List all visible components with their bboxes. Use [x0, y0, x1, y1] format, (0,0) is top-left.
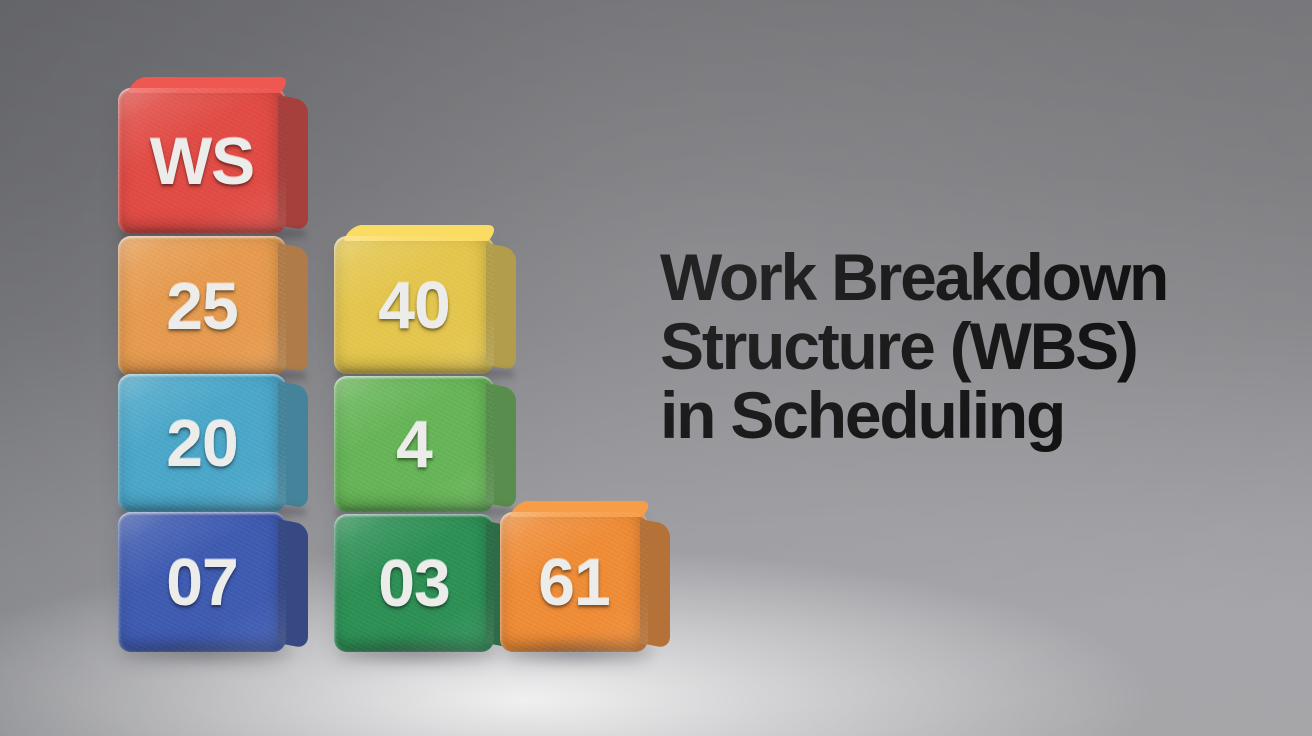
cube-block-light-blue: 20	[118, 374, 286, 512]
cube-label: 4	[334, 376, 494, 512]
cube-label: WS	[118, 88, 286, 234]
cube-block-dark-blue: 07	[118, 512, 286, 652]
cube-label: 25	[118, 236, 286, 376]
cube-block-red: WS	[118, 88, 286, 234]
cube-label: 61	[500, 512, 648, 652]
block-stack-group: WS2520074040361	[0, 0, 700, 736]
page-title: Work Breakdown Structure (WBS) in Schedu…	[660, 243, 1260, 450]
cube-label: 03	[334, 514, 494, 652]
cube-block-orange: 25	[118, 236, 286, 376]
cube-block-yellow: 40	[334, 236, 494, 374]
cube-block-dark-green: 03	[334, 514, 494, 652]
cube-label: 20	[118, 374, 286, 512]
cube-block-light-green: 4	[334, 376, 494, 512]
hero-scene: WS2520074040361 Work Breakdown Structure…	[0, 0, 1312, 736]
cube-label: 07	[118, 512, 286, 652]
cube-block-orange-right: 61	[500, 512, 648, 652]
cube-label: 40	[334, 236, 494, 374]
